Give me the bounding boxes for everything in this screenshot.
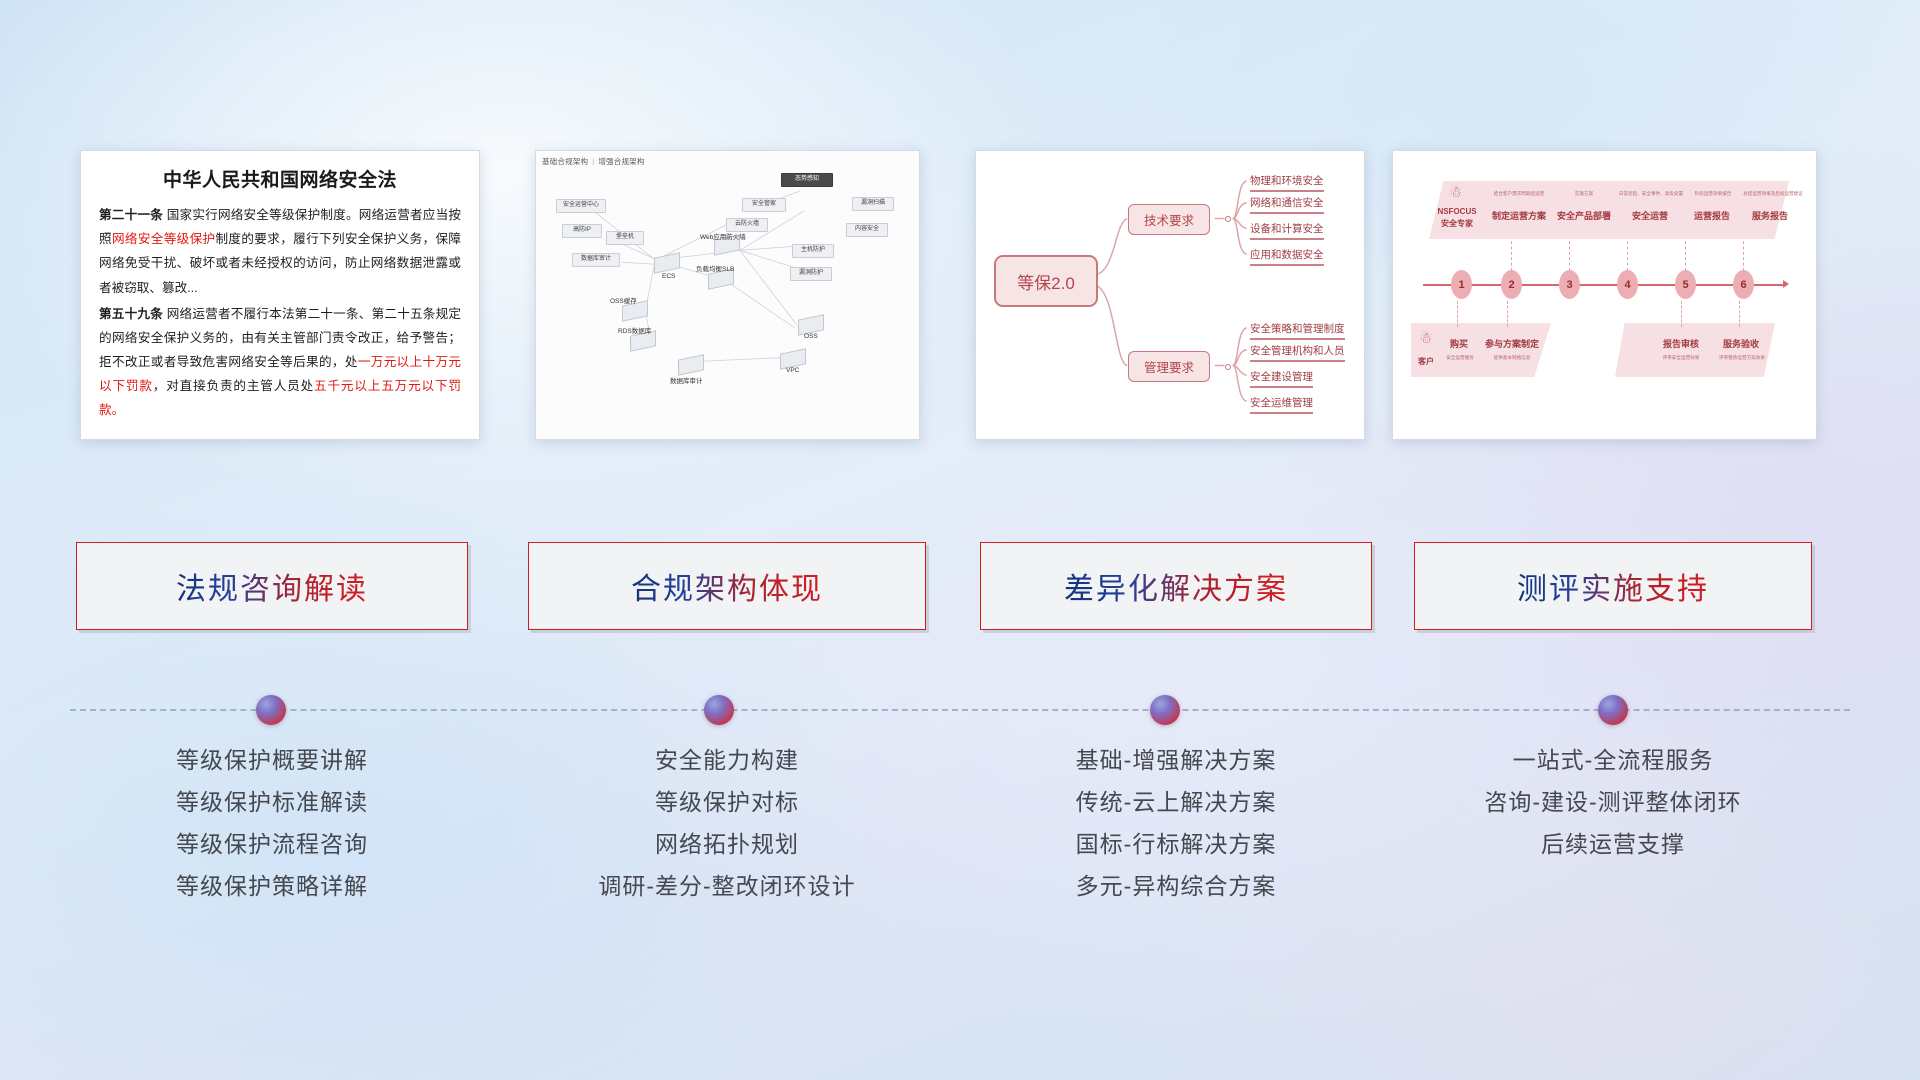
process-axis-arrow (1783, 280, 1789, 288)
card-mindmap: 等保2.0 技术要求 物理和环境安全 网络和通信安全 设备和计算安全 应用和数据… (975, 150, 1365, 440)
list-item: 等级保护对标 (528, 782, 926, 824)
architecture-label-waf: Web应用防火墙 (700, 231, 746, 241)
top-step-2-sub: 实施方案 (1555, 191, 1613, 197)
card-architecture-diagram: 基础合规架构|增强合规架构 态势感知 安全管家 (535, 150, 920, 440)
bottom-step-1-sub: 安全运营服务 (1437, 355, 1483, 361)
law-article-21: 第二十一条 国家实行网络安全等级保护制度。网络运营者应当按照网络安全等级保护制度… (99, 203, 461, 300)
process-dash-4 (1685, 241, 1686, 271)
top-step-1-sub: 结合客户需求周期后运营 (1487, 191, 1551, 197)
process-node-2: 2 (1501, 270, 1522, 299)
process-dash-5 (1743, 241, 1744, 271)
list-item: 等级保护流程咨询 (76, 824, 468, 866)
top-step-1-label: 制定运营方案 (1487, 209, 1551, 222)
bottom-step-3-label: 报告审核 (1655, 337, 1707, 350)
top-step-2-label: 安全产品部署 (1553, 209, 1615, 222)
list-item: 咨询-建设-测评整体闭环 (1414, 782, 1812, 824)
bottom-step-2-sub: 提供基本网络信息 (1481, 355, 1543, 361)
list-item: 后续运营支撑 (1414, 824, 1812, 866)
law-article-59-seg-2: ，对直接负责的主管人员处 (153, 379, 314, 393)
header-label-assessment-support: 测评实施支持 (1517, 564, 1709, 608)
mindmap-leaf-physical-env: 物理和环境安全 (1250, 173, 1324, 192)
process-band-customer-right (1615, 323, 1775, 377)
law-article-21-seg-1: 网络安全等级保护 (112, 232, 216, 246)
architecture-header-left: 基础合规架构 (542, 157, 588, 166)
mindmap-branch-technical: 技术要求 (1128, 204, 1210, 235)
header-box-differentiated-solution[interactable]: 差异化解决方案 (980, 542, 1372, 630)
process-dash-b6 (1739, 301, 1740, 327)
mindmap-canvas: 等保2.0 技术要求 物理和环境安全 网络和通信安全 设备和计算安全 应用和数据… (976, 151, 1364, 439)
law-document-body: 中华人民共和国网络安全法 第二十一条 国家实行网络安全等级保护制度。网络运营者应… (81, 151, 479, 435)
detail-list-differentiated-solution: 基础-增强解决方案 传统-云上解决方案 国标-行标解决方案 多元-异构综合方案 (980, 740, 1372, 907)
process-dash-3 (1627, 241, 1628, 271)
mindmap-leaf-app-data: 应用和数据安全 (1250, 247, 1324, 266)
architecture-box-cloud-firewall: 云防火墙 (726, 218, 768, 232)
timeline (0, 690, 1920, 730)
architecture-box-situational: 态势感知 (781, 173, 833, 187)
reference-cards-row: 中华人民共和国网络安全法 第二十一条 国家实行网络安全等级保护制度。网络运营者应… (0, 150, 1920, 440)
architecture-label-ecs: ECS (662, 273, 675, 280)
mindmap-dot-management (1225, 364, 1231, 370)
list-item: 等级保护概要讲解 (76, 740, 468, 782)
architecture-box-vuln-scan: 漏洞扫描 (852, 197, 894, 211)
timeline-dot-1 (256, 695, 286, 725)
process-dash-1 (1511, 241, 1512, 271)
customer-person-icon: ☃ (1419, 331, 1432, 346)
bottom-step-1-label: 购买 (1441, 337, 1477, 350)
architecture-box-bastion: 堡垒机 (606, 231, 644, 245)
header-box-compliance-architecture[interactable]: 合规架构体现 (528, 542, 926, 630)
mindmap-leaf-build-mgmt: 安全建设管理 (1250, 369, 1313, 388)
list-item: 安全能力构建 (528, 740, 926, 782)
top-step-3-label: 安全运营 (1621, 209, 1679, 222)
top-step-5-label: 服务报告 (1743, 209, 1797, 222)
mindmap-leaf-ops-mgmt: 安全运维管理 (1250, 395, 1313, 414)
section-headers: 法规咨询解读 合规架构体现 差异化解决方案 测评实施支持 (0, 542, 1920, 630)
mindmap-leaf-network-comm: 网络和通信安全 (1250, 195, 1324, 214)
top-step-4-sub: 阶段运营效果报告 (1683, 191, 1743, 197)
card-process-timeline: ☃ NSFOCUS 安全专家 结合客户需求周期后运营 制定运营方案 实施方案 安… (1392, 150, 1817, 440)
law-article-59: 第五十九条 网络运营者不履行本法第二十一条、第二十五条规定的网络安全保护义务的，… (99, 302, 461, 423)
expert-person-icon: ☃ (1449, 185, 1462, 200)
detail-list-regulation-consulting: 等级保护概要讲解 等级保护标准解读 等级保护流程咨询 等级保护策略详解 (76, 740, 468, 907)
timeline-dot-3 (1150, 695, 1180, 725)
architecture-box-host-protect: 主机防护 (792, 244, 834, 258)
process-dash-2 (1569, 241, 1570, 271)
header-box-assessment-support[interactable]: 测评实施支持 (1414, 542, 1812, 630)
process-node-6: 6 (1733, 270, 1754, 299)
architecture-label-db-audit2: 数据库审计 (670, 375, 703, 385)
architecture-box-content-security: 内容安全 (846, 223, 888, 237)
architecture-box-soc: 安全运营中心 (556, 199, 606, 213)
process-axis (1423, 284, 1785, 286)
header-label-compliance-architecture: 合规架构体现 (631, 564, 823, 608)
architecture-box-db-audit: 数据库审计 (572, 253, 620, 267)
timeline-dot-2 (704, 695, 734, 725)
detail-lists: 等级保护概要讲解 等级保护标准解读 等级保护流程咨询 等级保护策略详解 安全能力… (0, 740, 1920, 970)
law-article-59-number: 第五十九条 (99, 307, 163, 321)
process-node-1: 1 (1451, 270, 1472, 299)
architecture-box-steward: 安全管家 (742, 198, 786, 212)
list-item: 多元-异构综合方案 (980, 866, 1372, 908)
architecture-canvas: 基础合规架构|增强合规架构 态势感知 安全管家 (536, 151, 919, 439)
list-item: 传统-云上解决方案 (980, 782, 1372, 824)
list-item: 调研-差分-整改闭环设计 (528, 866, 926, 908)
timeline-dot-4 (1598, 695, 1628, 725)
process-dash-b2 (1507, 301, 1508, 327)
header-label-regulation-consulting: 法规咨询解读 (176, 564, 368, 608)
expert-subtitle: 安全专家 (1429, 218, 1485, 229)
architecture-header: 基础合规架构|增强合规架构 (542, 156, 645, 167)
top-step-3-sub: 日常巡检、安全事件、高危处置 (1615, 191, 1687, 197)
list-item: 等级保护标准解读 (76, 782, 468, 824)
process-node-3: 3 (1559, 270, 1580, 299)
architecture-label-rds: RDS数据库 (618, 325, 651, 335)
architecture-box-highdefense-ip: 高防IP (562, 224, 602, 238)
mindmap-branch-management: 管理要求 (1128, 351, 1210, 382)
mindmap-leaf-device-compute: 设备和计算安全 (1250, 221, 1324, 240)
architecture-label-slb: 负载均衡SLB (696, 263, 734, 273)
bottom-step-4-sub: 评审整改运营方案效果 (1709, 355, 1775, 361)
expert-title: NSFOCUS (1429, 207, 1485, 216)
detail-list-compliance-architecture: 安全能力构建 等级保护对标 网络拓扑规划 调研-差分-整改闭环设计 (528, 740, 926, 907)
architecture-hex-ecs (654, 252, 680, 274)
bottom-step-4-label: 服务验收 (1715, 337, 1767, 350)
architecture-label-oss-cache: OSS缓存 (610, 295, 637, 305)
law-document-title: 中华人民共和国网络安全法 (99, 165, 461, 192)
header-box-regulation-consulting[interactable]: 法规咨询解读 (76, 542, 468, 630)
process-node-4: 4 (1617, 270, 1638, 299)
list-item: 等级保护策略详解 (76, 866, 468, 908)
list-item: 一站式-全流程服务 (1414, 740, 1812, 782)
timeline-dashed-line (70, 709, 1850, 711)
detail-list-assessment-support: 一站式-全流程服务 咨询-建设-测评整体闭环 后续运营支撑 (1414, 740, 1812, 866)
list-item: 基础-增强解决方案 (980, 740, 1372, 782)
architecture-header-right: 增强合规架构 (598, 157, 644, 166)
process-canvas: ☃ NSFOCUS 安全专家 结合客户需求周期后运营 制定运营方案 实施方案 安… (1393, 151, 1816, 439)
list-item: 国标-行标解决方案 (980, 824, 1372, 866)
process-dash-b5 (1681, 301, 1682, 327)
mindmap-root-node: 等保2.0 (994, 255, 1098, 307)
law-article-21-number: 第二十一条 (99, 208, 163, 222)
card-law-document: 中华人民共和国网络安全法 第二十一条 国家实行网络安全等级保护制度。网络运营者应… (80, 150, 480, 440)
top-step-5-sub: 总结运营效果及后续运营建议 (1737, 191, 1809, 197)
poster-canvas: 中华人民共和国网络安全法 第二十一条 国家实行网络安全等级保护制度。网络运营者应… (0, 0, 1920, 1080)
bottom-step-2-label: 参与方案制定 (1481, 337, 1543, 350)
mindmap-leaf-policy-system: 安全策略和管理制度 (1250, 321, 1345, 340)
architecture-label-vpc: VPC (786, 367, 799, 374)
top-step-4-label: 运营报告 (1685, 209, 1739, 222)
bottom-step-3-sub: 评审安全运营效果 (1651, 355, 1711, 361)
header-label-differentiated-solution: 差异化解决方案 (1064, 564, 1288, 608)
list-item: 网络拓扑规划 (528, 824, 926, 866)
process-node-5: 5 (1675, 270, 1696, 299)
mindmap-dot-technical (1225, 216, 1231, 222)
process-dash-b1 (1457, 301, 1458, 327)
architecture-hex-db-audit (678, 354, 704, 376)
mindmap-leaf-org-personnel: 安全管理机构和人员 (1250, 343, 1345, 362)
architecture-label-oss: OSS (804, 333, 818, 340)
architecture-box-vuln-protect: 漏洞防护 (790, 267, 832, 281)
architecture-connector-lines (536, 151, 919, 439)
